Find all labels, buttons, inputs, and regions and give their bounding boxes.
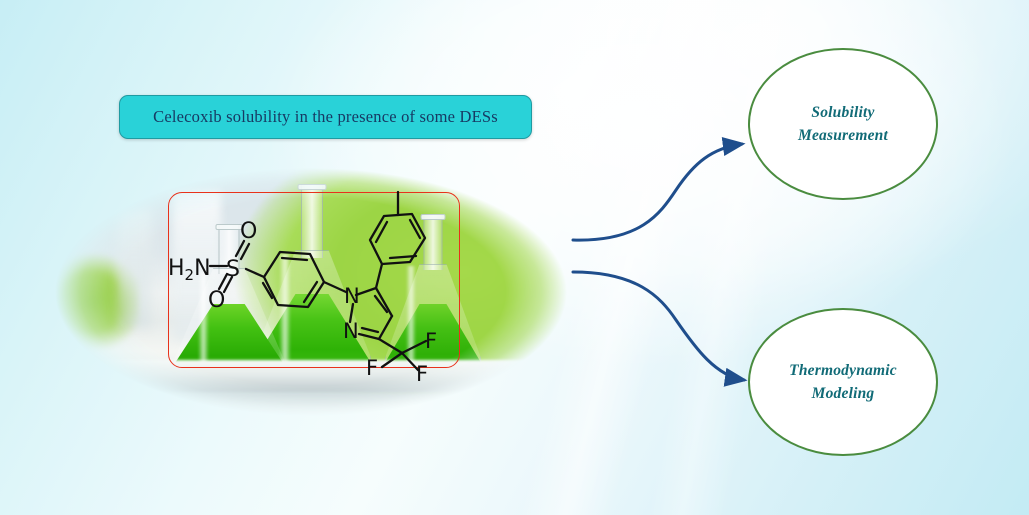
celecoxib-structure: H2N S O O N N F F F bbox=[160, 176, 480, 386]
photo-bench-shadow bbox=[55, 392, 567, 416]
atom-label-f3: F bbox=[416, 362, 428, 386]
outcome-label-solubility: Solubility Measurement bbox=[798, 101, 888, 148]
outcome-line-2: Measurement bbox=[798, 127, 888, 144]
atom-label-h2n: H2N bbox=[168, 256, 211, 284]
atom-label-o-top: O bbox=[240, 219, 257, 244]
atom-label-n2: N bbox=[343, 319, 359, 343]
title-banner: Celecoxib solubility in the presence of … bbox=[119, 95, 532, 139]
outcome-line-1: Thermodynamic bbox=[789, 362, 897, 379]
outcome-line-2: Modeling bbox=[812, 385, 875, 402]
outcome-oval-solubility: Solubility Measurement bbox=[748, 48, 938, 200]
atom-label-f2: F bbox=[366, 356, 378, 380]
atom-label-o-bottom: O bbox=[208, 288, 225, 313]
outcome-label-modeling: Thermodynamic Modeling bbox=[789, 359, 897, 406]
photo-blurred-bottle-far bbox=[117, 208, 151, 328]
outcome-line-1: Solubility bbox=[811, 104, 874, 121]
atom-label-n1: N bbox=[344, 284, 360, 308]
outcome-oval-modeling: Thermodynamic Modeling bbox=[748, 308, 938, 456]
title-banner-text: Celecoxib solubility in the presence of … bbox=[153, 107, 498, 127]
atom-label-f1: F bbox=[425, 329, 437, 353]
atom-label-s: S bbox=[226, 257, 240, 282]
